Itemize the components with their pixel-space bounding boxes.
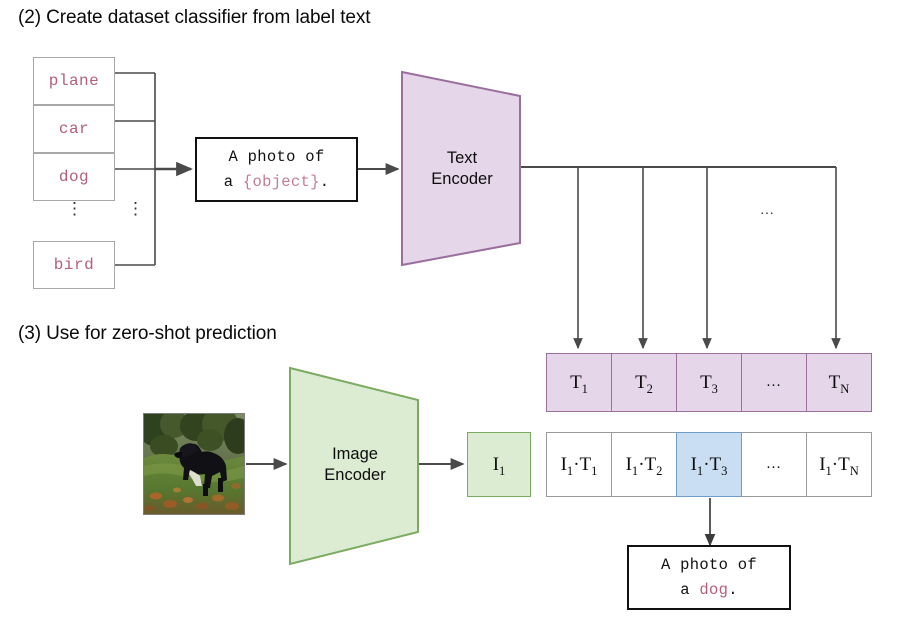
prediction-line2-prefix: a xyxy=(680,581,699,599)
figure-canvas: (2) Create dataset classifier from label… xyxy=(0,0,906,624)
input-photo[interactable] xyxy=(143,413,245,515)
text-embedding-cell-ellipsis: … xyxy=(741,353,807,412)
text-embedding-cell[interactable]: T1 xyxy=(546,353,612,412)
label-text: dog xyxy=(59,168,89,186)
prompt-line-2: a {object}. xyxy=(224,170,330,194)
prediction-line2-suffix: . xyxy=(728,581,738,599)
text-embedding-cell[interactable]: T2 xyxy=(611,353,677,412)
text-encoder-line-2: Encoder xyxy=(396,169,528,190)
text-embedding-cell[interactable]: T3 xyxy=(676,353,742,412)
similarity-cell-ellipsis: … xyxy=(741,432,807,497)
prompt-line-1: A photo of xyxy=(228,145,324,169)
cell-label: I1 xyxy=(493,454,506,476)
cell-label: I1·T2 xyxy=(626,454,663,476)
similarity-cell[interactable]: I1·T1 xyxy=(546,432,612,497)
label-box-bird[interactable]: bird xyxy=(33,241,115,289)
label-box-plane[interactable]: plane xyxy=(33,57,115,105)
cell-label: T2 xyxy=(635,372,653,394)
label-box-car[interactable]: car xyxy=(33,105,115,153)
cell-label: … xyxy=(766,374,782,391)
text-embedding-cell[interactable]: TN xyxy=(806,353,872,412)
image-encoder-caption: Image Encoder xyxy=(284,444,426,485)
similarity-row: I1·T1 I1·T2 I1·T3 … I1·TN xyxy=(546,432,873,497)
prompt-template-box[interactable]: A photo of a {object}. xyxy=(195,137,358,202)
prompt-line2-prefix: a xyxy=(224,173,243,191)
prediction-output-box[interactable]: A photo of a dog. xyxy=(627,545,791,610)
section-3-title: (3) Use for zero-shot prediction xyxy=(18,323,277,345)
similarity-cell[interactable]: I1·TN xyxy=(806,432,872,497)
label-text: bird xyxy=(54,256,94,274)
cell-label: … xyxy=(766,456,782,473)
cell-label: TN xyxy=(829,372,850,394)
prediction-line-1: A photo of xyxy=(661,553,757,577)
prompt-object-token: {object} xyxy=(243,173,320,191)
bus-ellipsis: ⋮ xyxy=(127,204,143,215)
bus-ellipsis-top: … xyxy=(760,203,775,219)
text-encoder-caption: Text Encoder xyxy=(396,148,528,189)
label-text: car xyxy=(59,120,89,138)
label-box-dog[interactable]: dog xyxy=(33,153,115,201)
image-embedding-box[interactable]: I1 xyxy=(467,432,531,497)
text-embedding-row: T1 T2 T3 … TN xyxy=(546,353,873,412)
prediction-line-2: a dog. xyxy=(680,578,738,602)
cell-label: I1·T1 xyxy=(561,454,598,476)
cell-label: I1·TN xyxy=(819,454,859,476)
prediction-class-token: dog xyxy=(699,581,728,599)
image-encoder-block[interactable]: Image Encoder xyxy=(284,362,426,572)
prompt-line2-suffix: . xyxy=(320,173,330,191)
similarity-cell[interactable]: I1·T2 xyxy=(611,432,677,497)
text-encoder-block[interactable]: Text Encoder xyxy=(396,64,528,274)
cell-label: I1·T3 xyxy=(691,454,728,476)
text-encoder-line-1: Text xyxy=(396,148,528,169)
image-encoder-line-2: Encoder xyxy=(284,465,426,486)
image-encoder-line-1: Image xyxy=(284,444,426,465)
cell-label: T3 xyxy=(700,372,718,394)
photo-graphic xyxy=(144,414,244,514)
section-2-title: (2) Create dataset classifier from label… xyxy=(18,7,370,29)
label-text: plane xyxy=(49,72,100,90)
cell-label: T1 xyxy=(570,372,588,394)
similarity-cell-selected[interactable]: I1·T3 xyxy=(676,432,742,497)
label-list-ellipsis: ⋮ xyxy=(66,204,82,215)
